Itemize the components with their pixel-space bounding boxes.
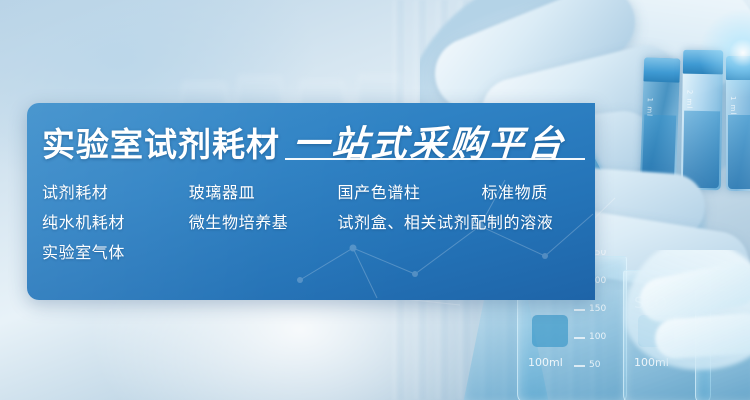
headline-underline [285, 158, 585, 160]
category-item[interactable]: 标准物质 [481, 179, 587, 203]
cryovial: 1 ml [640, 57, 681, 188]
beaker-volume-text: 100ml [528, 356, 563, 369]
vial-cap [643, 57, 680, 82]
vial-liquid [683, 111, 720, 189]
category-item[interactable]: 试剂耗材 [42, 179, 189, 203]
category-item[interactable]: 实验室气体 [42, 239, 195, 263]
vial-label-text: 2 ml [685, 90, 693, 110]
vial-label-text: 1 ml [645, 97, 654, 117]
category-item[interactable]: 国产色谱柱 [338, 179, 482, 203]
category-item[interactable]: 纯水机耗材 [42, 209, 189, 233]
glove-finger [654, 312, 750, 360]
category-item[interactable]: 玻璃器皿 [189, 179, 338, 203]
beaker-tick: 50 [574, 361, 620, 370]
vial-label-text: 1 ml [729, 96, 737, 115]
blue-content-panel: 实验室试剂耗材 一站式采购平台 试剂耗材 玻璃器皿 国产色谱柱 标准物质 纯水机… [27, 103, 595, 300]
category-row: 纯水机耗材 微生物培养基 试剂盒、相关试剂配制的溶液 [42, 206, 587, 236]
beaker-tick: 100 [574, 333, 620, 342]
vial-liquid [728, 115, 750, 189]
category-row: 试剂耗材 玻璃器皿 国产色谱柱 标准物质 [42, 176, 587, 206]
category-item[interactable]: 试剂盒、相关试剂配制的溶液 [338, 209, 587, 233]
promotional-banner: 1 ml 2 ml 1 ml GG-17 100ml 250 200 15 [0, 0, 750, 400]
category-row: 实验室气体 [42, 236, 587, 266]
beaker-sticker [532, 315, 568, 347]
category-item[interactable]: 微生物培养基 [189, 209, 338, 233]
category-list: 试剂耗材 玻璃器皿 国产色谱柱 标准物质 纯水机耗材 微生物培养基 试剂盒、相关… [42, 176, 587, 266]
headline-main-text: 实验室试剂耗材 [42, 118, 280, 166]
